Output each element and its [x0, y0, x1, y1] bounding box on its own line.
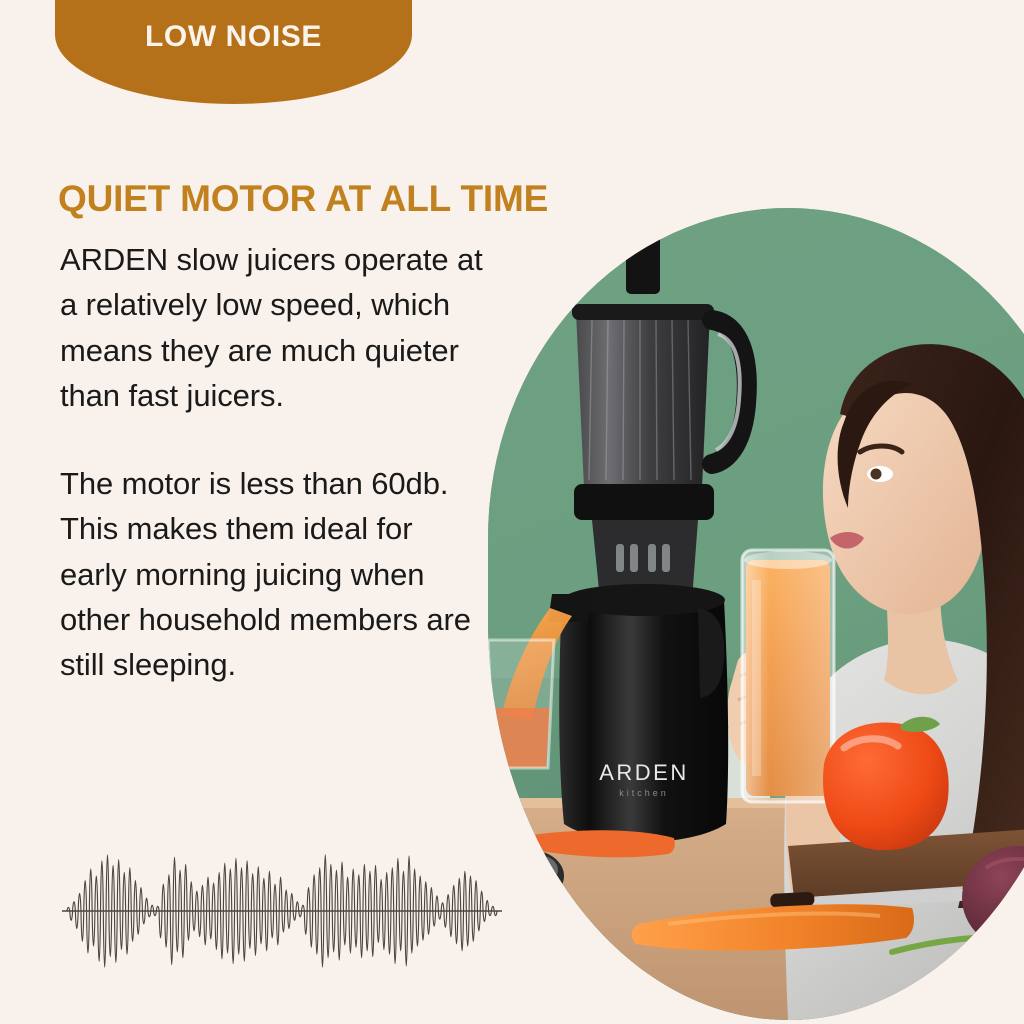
poster-canvas: LOW NOISE QUIET MOTOR AT ALL TIME ARDEN …: [0, 0, 1024, 1024]
audio-waveform-graphic: [58, 826, 506, 996]
photo-scene: ARDEN kitchen: [488, 208, 1024, 1020]
juicer-pusher: [626, 218, 660, 294]
tumbler-glass: [488, 640, 554, 768]
lifestyle-photo: ARDEN kitchen: [488, 208, 1024, 1020]
woman-pupil: [871, 469, 882, 480]
low-noise-badge: LOW NOISE: [55, 0, 412, 104]
juicer-brand-sublabel: kitchen: [619, 788, 669, 798]
juicer-collar: [574, 484, 714, 520]
paragraph-2: The motor is less than 60db. This makes …: [60, 461, 485, 687]
red-bell-pepper: [823, 717, 949, 850]
body-copy: ARDEN slow juicers operate at a relative…: [60, 237, 485, 687]
badge-label: LOW NOISE: [145, 22, 322, 52]
waveform-trace: [67, 855, 497, 967]
juice-glass-held: [742, 550, 834, 802]
garlic-press: [496, 850, 564, 902]
paragraph-1: ARDEN slow juicers operate at a relative…: [60, 237, 485, 418]
juicer-brand-label: ARDEN: [599, 760, 689, 785]
